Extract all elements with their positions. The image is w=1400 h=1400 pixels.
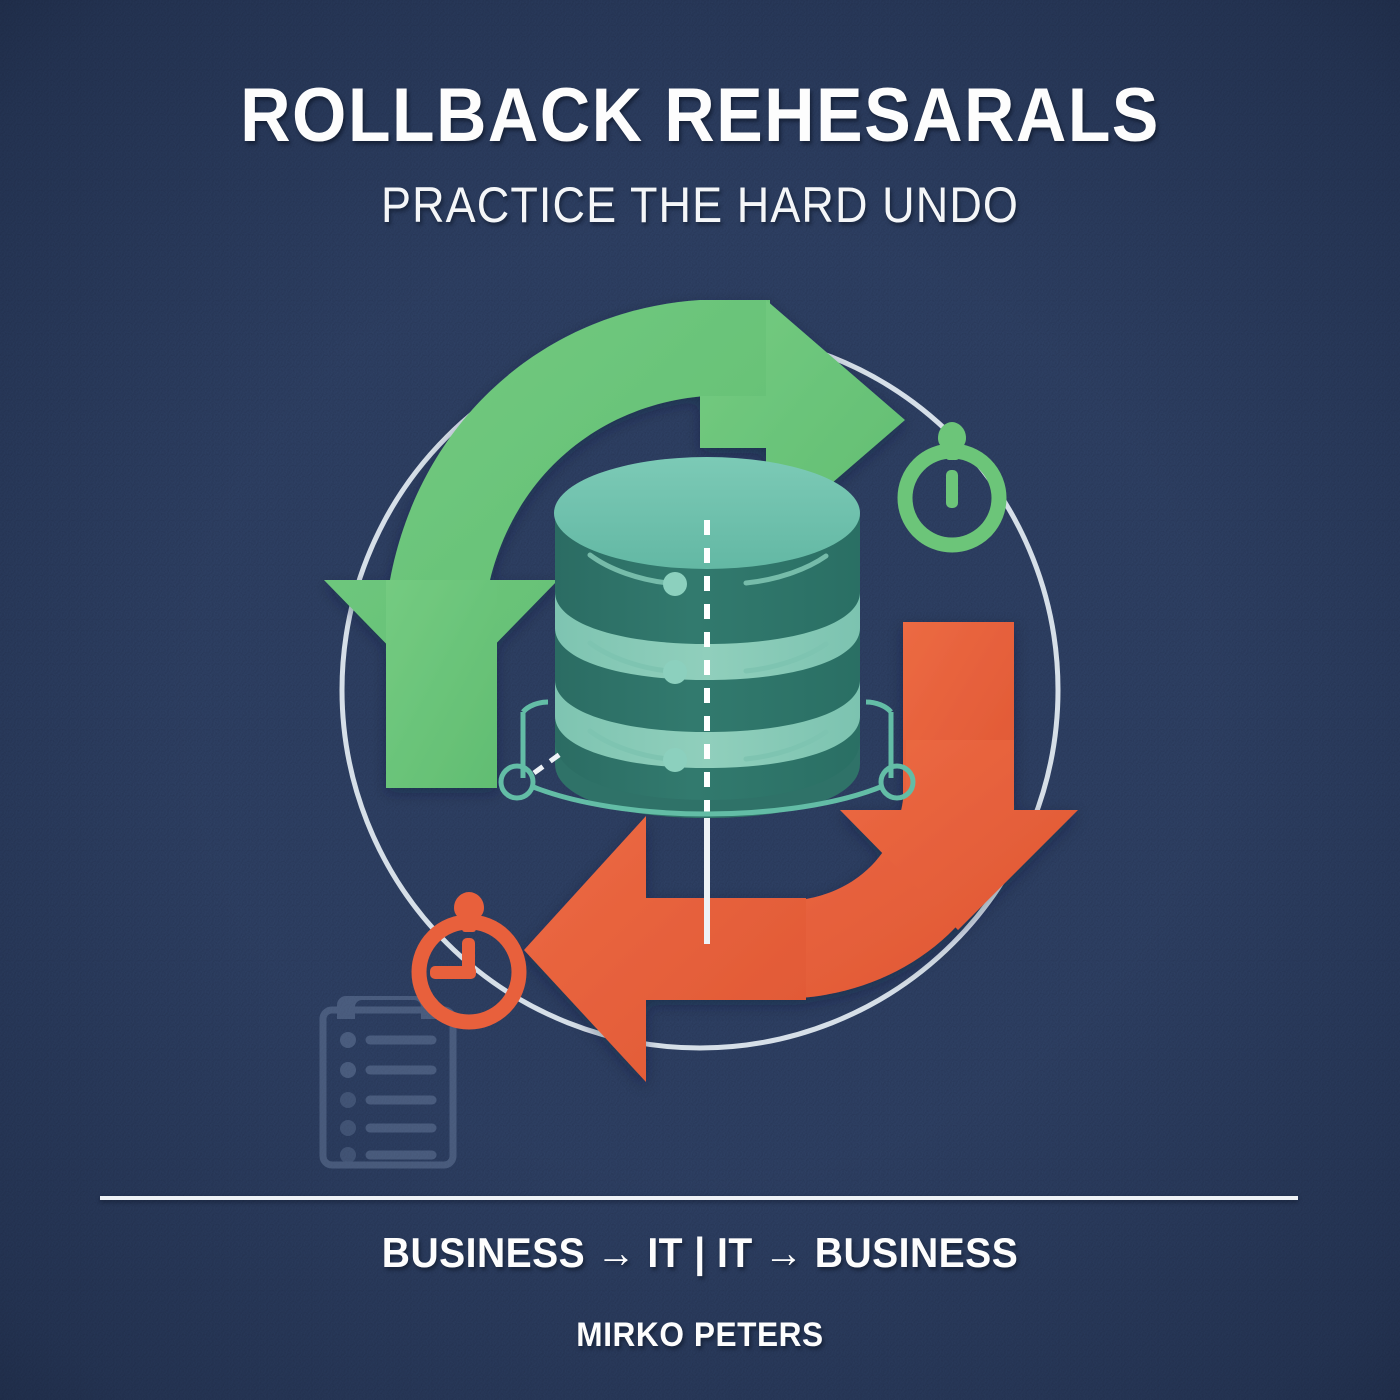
poster-canvas: ROLLBACK REHESARALS PRACTICE THE HARD UN… — [0, 0, 1400, 1400]
rollback-cycle-illustration — [0, 0, 1400, 1400]
checklist-clipboard-icon — [323, 996, 453, 1165]
database-cylinder — [501, 457, 913, 818]
orange-stopwatch-icon — [419, 892, 519, 1022]
green-stopwatch-icon — [878, 417, 999, 545]
footer-divider — [100, 1196, 1298, 1200]
